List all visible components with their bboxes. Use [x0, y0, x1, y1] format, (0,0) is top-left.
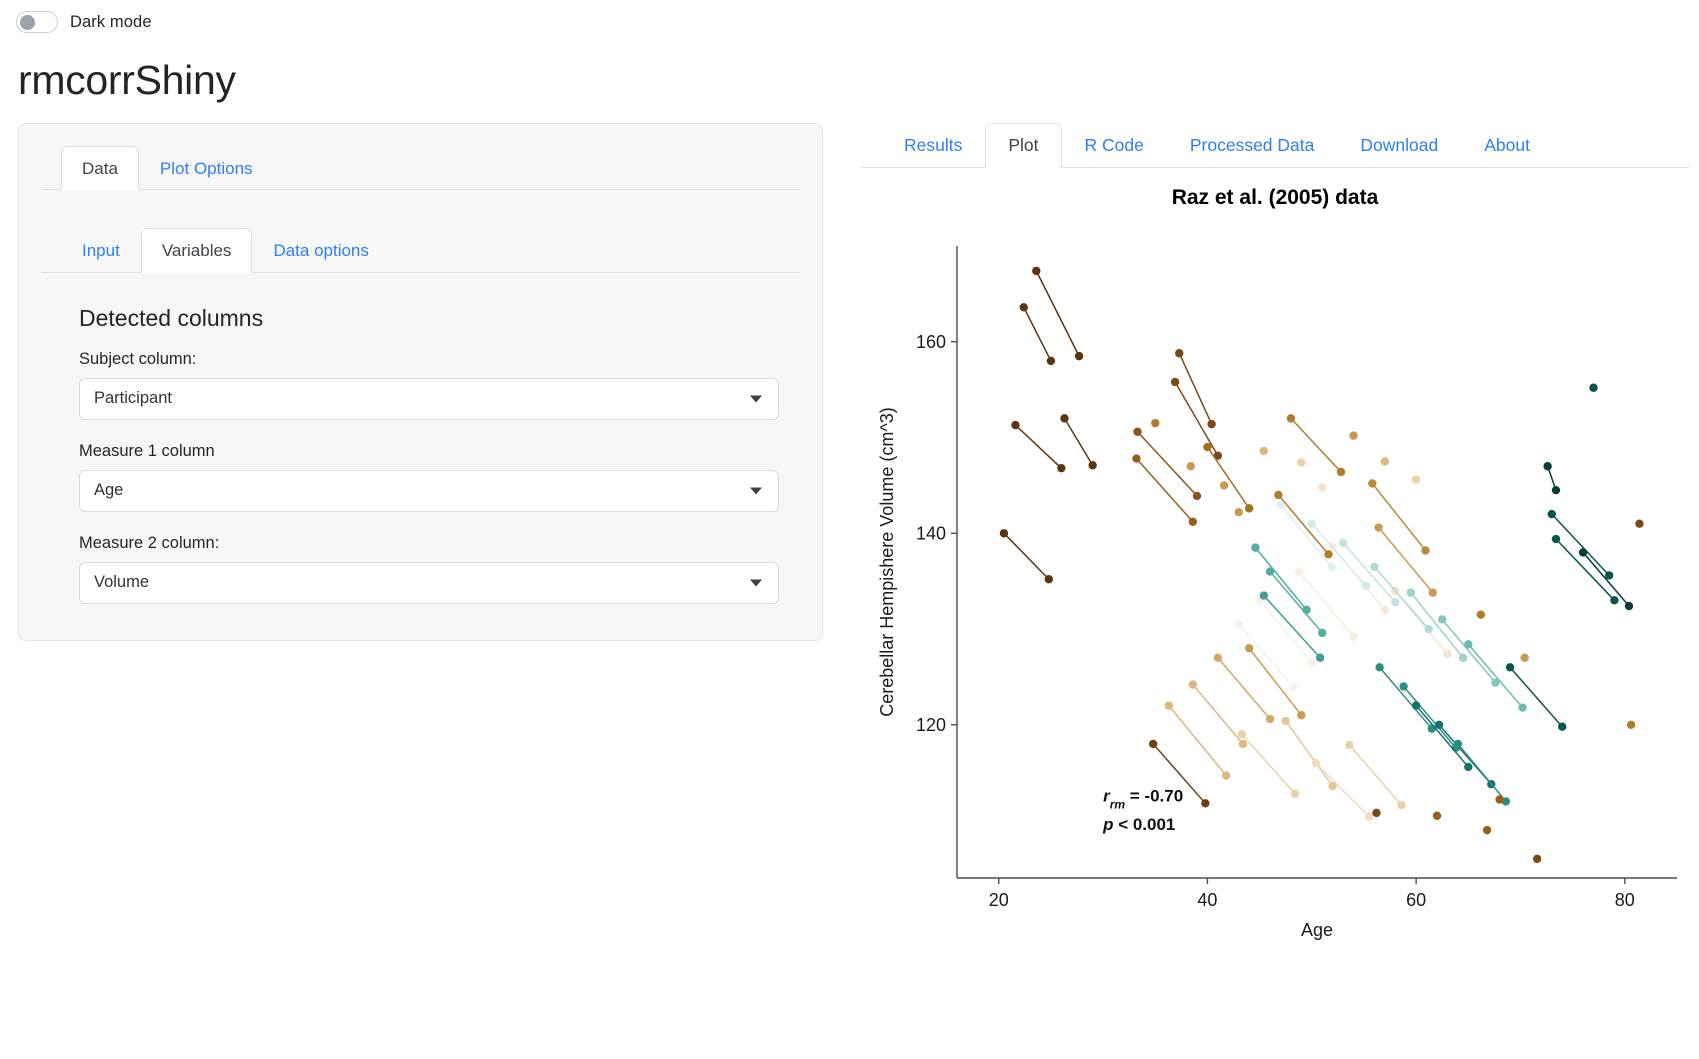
page-title: rmcorrShiny — [18, 60, 1699, 101]
tab-r-code[interactable]: R Code — [1062, 123, 1167, 168]
svg-text:40: 40 — [1197, 890, 1217, 910]
svg-text:20: 20 — [989, 890, 1009, 910]
sidebar-outer-tabs: Data Plot Options — [41, 146, 800, 190]
plot-title: Raz et al. (2005) data — [861, 186, 1689, 210]
dark-mode-toggle[interactable] — [16, 11, 58, 33]
dark-mode-row: Dark mode — [0, 0, 1699, 34]
measure1-column-field: Measure 1 column Age — [79, 442, 780, 512]
subject-column-select[interactable]: Participant — [79, 378, 779, 420]
main-panel: Results Plot R Code Processed Data Downl… — [861, 123, 1689, 998]
sidebar-card: Data Plot Options Input Variables Data o… — [18, 123, 823, 641]
svg-text:80: 80 — [1615, 890, 1635, 910]
svg-text:rrm = -0.70: rrm = -0.70 — [1103, 786, 1183, 811]
svg-text:160: 160 — [916, 332, 946, 352]
measure1-column-label: Measure 1 column — [79, 442, 780, 461]
measure2-column-field: Measure 2 column: Volume — [79, 534, 780, 604]
tab-data-options[interactable]: Data options — [252, 228, 389, 272]
tab-processed-data[interactable]: Processed Data — [1167, 123, 1338, 168]
detected-columns-heading: Detected columns — [79, 305, 780, 332]
subject-column-label: Subject column: — [79, 350, 780, 369]
variables-form: Detected columns Subject column: Partici… — [41, 305, 800, 604]
sidebar-inner-tabs-wrap: Input Variables Data options — [41, 228, 800, 272]
main-tabs: Results Plot R Code Processed Data Downl… — [861, 123, 1689, 168]
svg-text:p < 0.001: p < 0.001 — [1102, 815, 1175, 834]
measure2-column-value: Volume — [94, 573, 149, 592]
measure2-column-label: Measure 2 column: — [79, 534, 780, 553]
rmcorr-scatter-plot: 12014016020406080AgeCerebellar Hempisher… — [865, 228, 1685, 998]
tab-data[interactable]: Data — [61, 146, 139, 190]
chevron-down-icon — [750, 395, 762, 402]
svg-text:60: 60 — [1406, 890, 1426, 910]
tab-plot[interactable]: Plot — [985, 123, 1061, 168]
tab-input[interactable]: Input — [61, 228, 141, 272]
tab-variables[interactable]: Variables — [141, 228, 253, 272]
tab-results[interactable]: Results — [881, 123, 985, 168]
subject-column-value: Participant — [94, 389, 172, 408]
chevron-down-icon — [750, 487, 762, 494]
toggle-knob — [20, 15, 35, 30]
svg-text:120: 120 — [916, 715, 946, 735]
plot-svg: 12014016020406080AgeCerebellar Hempisher… — [865, 228, 1685, 968]
main-layout: Data Plot Options Input Variables Data o… — [0, 123, 1699, 998]
measure1-column-select[interactable]: Age — [79, 470, 779, 512]
tab-about[interactable]: About — [1461, 123, 1553, 168]
dark-mode-label: Dark mode — [70, 13, 152, 32]
svg-text:Cerebellar Hempishere Volume (: Cerebellar Hempishere Volume (cm^3) — [877, 407, 897, 717]
subject-column-field: Subject column: Participant — [79, 350, 780, 420]
measure1-column-value: Age — [94, 481, 123, 500]
svg-text:Age: Age — [1301, 920, 1333, 940]
tab-download[interactable]: Download — [1337, 123, 1461, 168]
measure2-column-select[interactable]: Volume — [79, 562, 779, 604]
tab-plot-options[interactable]: Plot Options — [139, 146, 274, 190]
svg-text:140: 140 — [916, 523, 946, 543]
sidebar-inner-tabs: Input Variables Data options — [41, 228, 800, 272]
chevron-down-icon — [750, 579, 762, 586]
